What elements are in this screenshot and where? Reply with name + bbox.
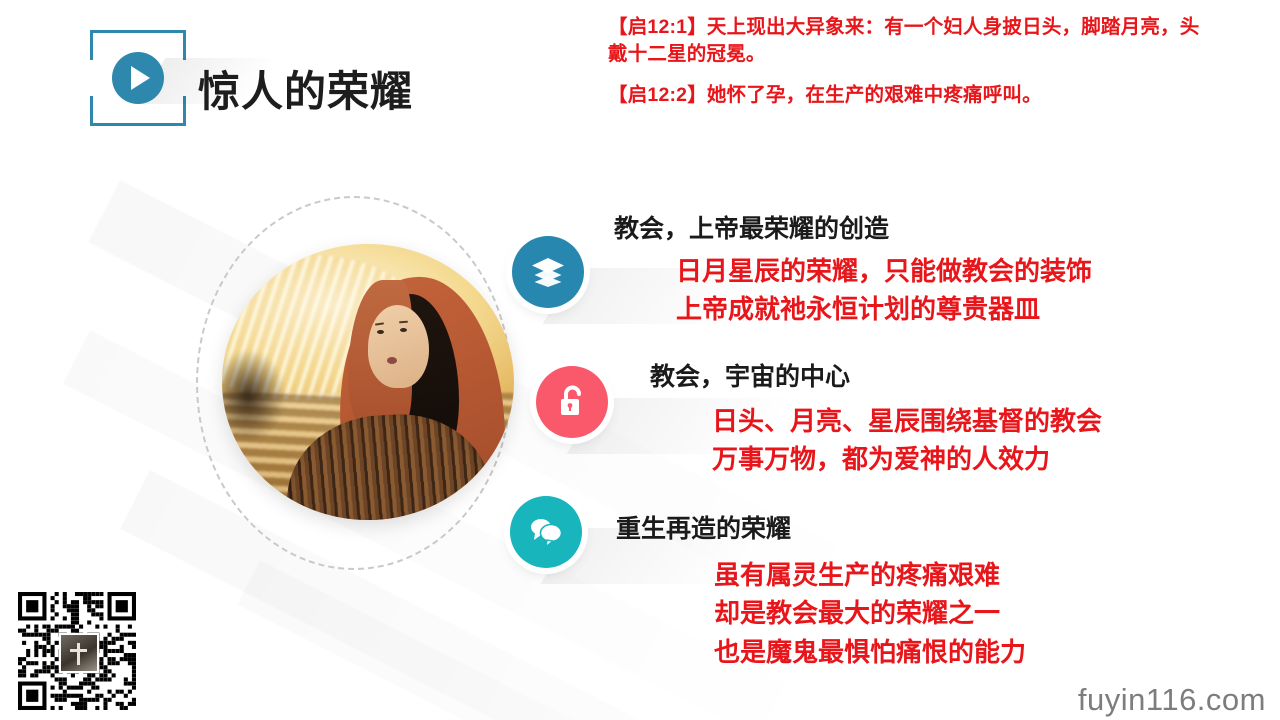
block-2-lines: 日头、月亮、星辰围绕基督的教会 万事万物，都为爱神的人效力 (650, 402, 1102, 479)
block-1-line-1: 日月星辰的荣耀，只能做教会的装饰 (676, 252, 1092, 290)
block-3-line-2: 却是教会最大的荣耀之一 (714, 594, 1026, 632)
qr-center-image (59, 633, 99, 673)
content-block-2: 教会，宇宙的中心 日头、月亮、星辰围绕基督的教会 万事万物，都为爱神的人效力 (650, 362, 1102, 479)
block-3-heading: 重生再造的荣耀 (616, 514, 1026, 544)
content-block-1: 教会，上帝最荣耀的创造 日月星辰的荣耀，只能做教会的装饰 上帝成就祂永恒计划的尊… (614, 214, 1092, 329)
play-button-icon (112, 52, 164, 104)
content-block-3: 重生再造的荣耀 虽有属灵生产的疼痛艰难 却是教会最大的荣耀之一 也是魔鬼最惧怕痛… (616, 514, 1026, 671)
block-1-lines: 日月星辰的荣耀，只能做教会的装饰 上帝成就祂永恒计划的尊贵器皿 (614, 252, 1092, 329)
block-2-line-1: 日头、月亮、星辰围绕基督的教会 (712, 402, 1102, 440)
block-1-heading: 教会，上帝最荣耀的创造 (614, 214, 1092, 244)
block-3-line-1: 虽有属灵生产的疼痛艰难 (714, 556, 1026, 594)
qr-code[interactable] (18, 592, 136, 710)
block-3-line-3: 也是魔鬼最惧怕痛恨的能力 (714, 633, 1026, 671)
scripture-verse-2: 【启12:2】她怀了孕，在生产的艰难中疼痛呼叫。 (608, 82, 1208, 109)
page-title: 惊人的荣耀 (198, 58, 413, 119)
layers-icon (512, 236, 584, 308)
watermark: fuyin116.com (1078, 682, 1266, 718)
scripture-verse-1: 【启12:1】天上现出大异象来：有一个妇人身披日头，脚踏月亮，头戴十二星的冠冕。 (608, 14, 1208, 68)
chat-bubbles-icon (510, 496, 582, 568)
scripture-block: 【启12:1】天上现出大异象来：有一个妇人身披日头，脚踏月亮，头戴十二星的冠冕。… (608, 14, 1208, 123)
block-2-heading: 教会，宇宙的中心 (650, 362, 1102, 392)
block-2-line-2: 万事万物，都为爱神的人效力 (712, 440, 1102, 478)
block-3-lines: 虽有属灵生产的疼痛艰难 却是教会最大的荣耀之一 也是魔鬼最惧怕痛恨的能力 (616, 556, 1026, 671)
illustration-photo (222, 244, 514, 520)
block-1-line-2: 上帝成就祂永恒计划的尊贵器皿 (676, 290, 1092, 328)
unlock-icon (536, 366, 608, 438)
slide-root: 惊人的荣耀 【启12:1】天上现出大异象来：有一个妇人身披日头，脚踏月亮，头戴十… (0, 0, 1280, 720)
